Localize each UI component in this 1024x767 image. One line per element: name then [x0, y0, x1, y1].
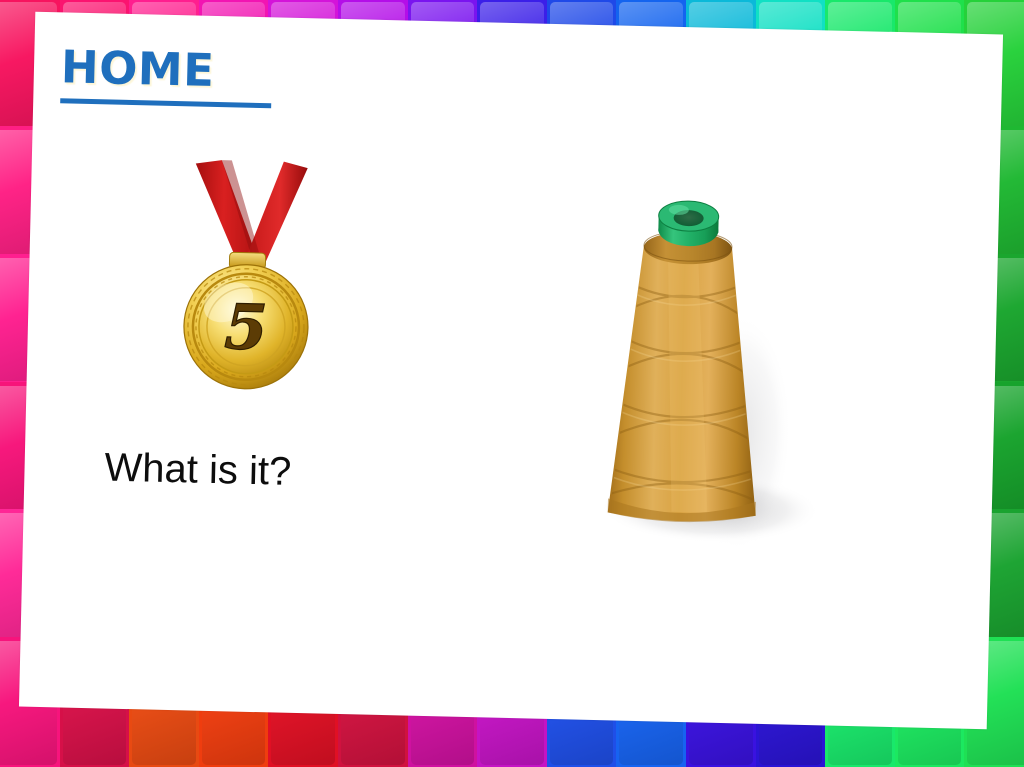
- slide-card: HOME: [19, 12, 1003, 730]
- thread-cone-image: [541, 179, 830, 555]
- home-link[interactable]: HOME: [60, 44, 214, 93]
- home-link-underline: [60, 98, 271, 108]
- slide-stage: HOME: [0, 0, 1024, 767]
- medal-number: 5: [224, 290, 269, 364]
- gold-medal-icon: 5: [174, 153, 320, 396]
- slide-content: HOME: [19, 12, 1003, 730]
- question-text: What is it?: [104, 445, 292, 493]
